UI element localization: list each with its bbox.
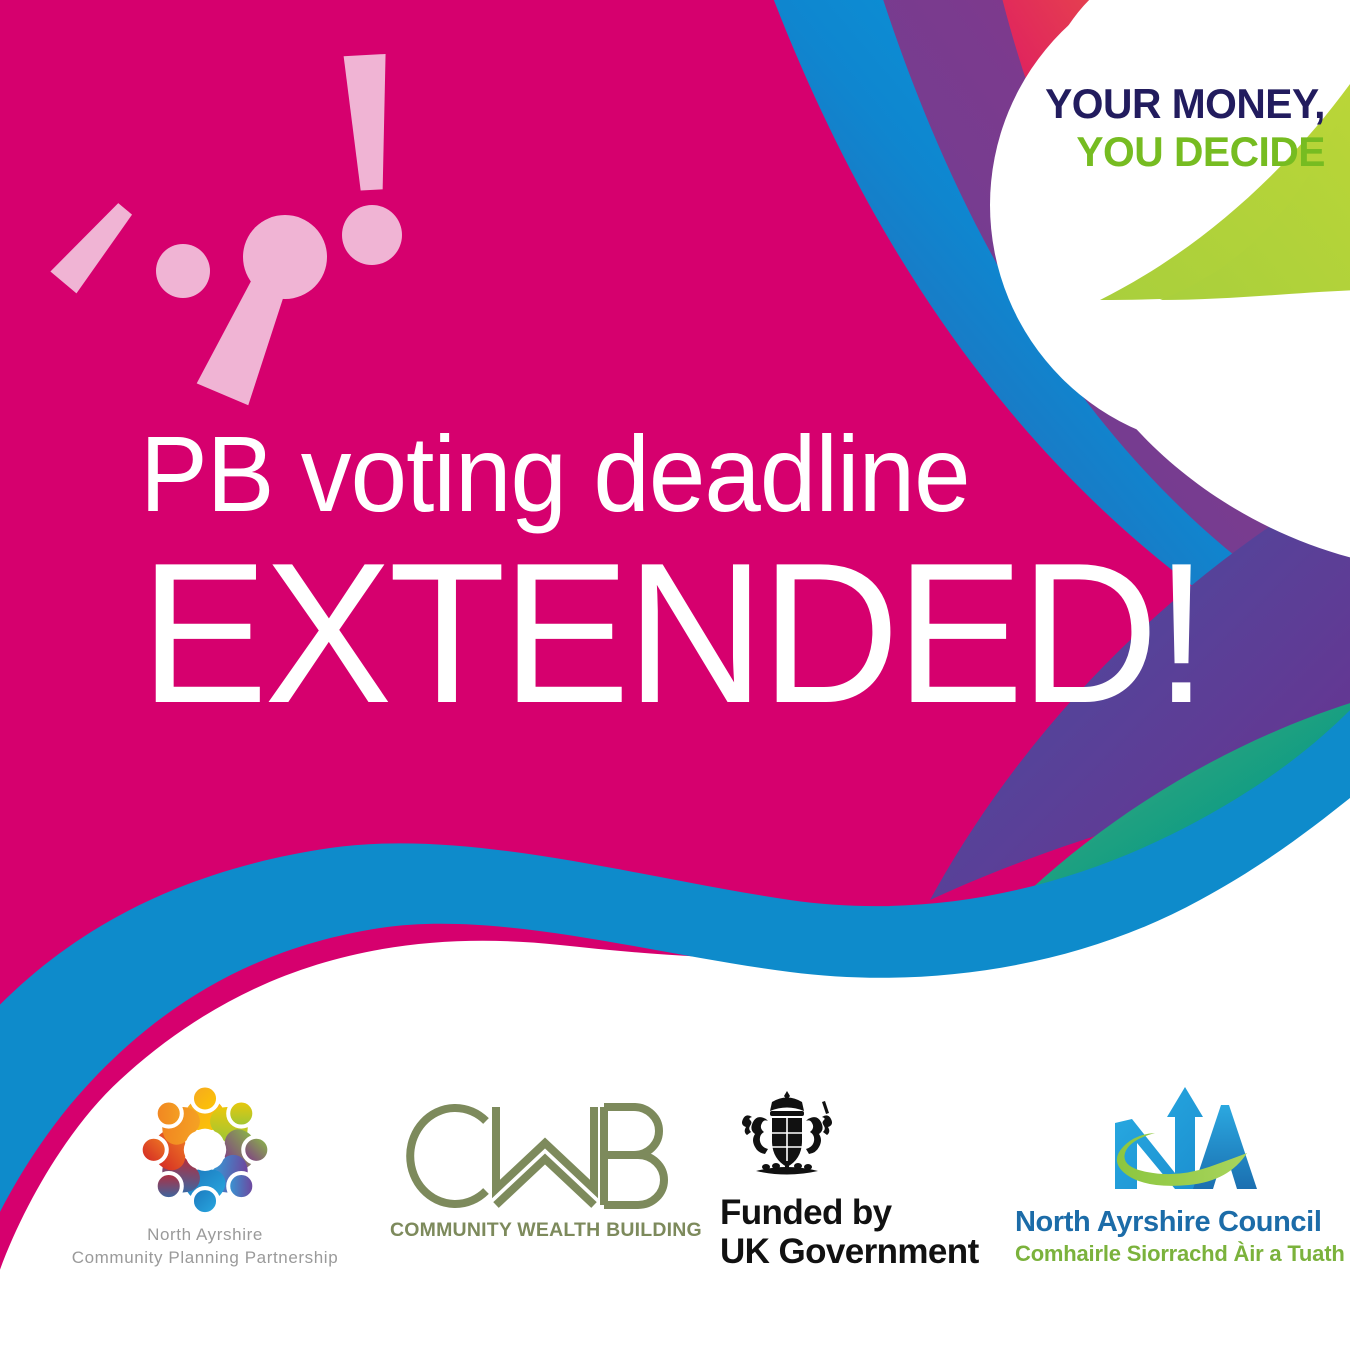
logo-cwb-caption: COMMUNITY WEALTH BUILDING xyxy=(390,1219,690,1242)
cwb-monogram-icon xyxy=(390,1093,690,1218)
strapline: YOUR MONEY, YOU DECIDE xyxy=(995,82,1325,174)
logo-cpp-caption-line-2: Community Planning Partnership xyxy=(55,1247,355,1270)
headline: PB voting deadline EXTENDED! xyxy=(140,420,1100,734)
headline-line-1: PB voting deadline xyxy=(140,420,1042,528)
exclamation-mark-right xyxy=(344,54,393,191)
logo-ukg-caption: Funded by UK Government xyxy=(720,1193,1000,1271)
na-arrow-monogram-icon xyxy=(1015,1081,1315,1206)
logo-community-wealth-building: COMMUNITY WEALTH BUILDING xyxy=(390,1093,690,1242)
royal-coat-of-arms-icon xyxy=(732,1087,842,1187)
strapline-line-2: YOU DECIDE xyxy=(1005,130,1325,174)
people-ring-icon xyxy=(55,1085,355,1220)
logo-funded-by-uk-government: Funded by UK Government xyxy=(720,1087,1000,1271)
exclamation-mark-small xyxy=(50,198,138,293)
logo-ukg-caption-line-2: UK Government xyxy=(720,1232,1000,1271)
headline-line-2: EXTENDED! xyxy=(140,534,1062,734)
logo-cpp-caption: North Ayrshire Community Planning Partne… xyxy=(55,1224,355,1270)
logo-cpp-caption-line-1: North Ayrshire xyxy=(55,1224,355,1247)
logo-nac-caption-line-1: North Ayrshire Council xyxy=(1015,1206,1315,1239)
logo-north-ayrshire-council: North Ayrshire Council Comhairle Siorrac… xyxy=(1015,1081,1315,1267)
logo-strip: North Ayrshire Community Planning Partne… xyxy=(0,1075,1350,1295)
exclamation-dot-large xyxy=(243,215,327,299)
poster-canvas: PB voting deadline EXTENDED! YOUR MONEY,… xyxy=(0,0,1350,1350)
exclamation-dot-right xyxy=(342,205,402,265)
strapline-line-1: YOUR MONEY, xyxy=(1005,82,1325,126)
logo-north-ayrshire-cpp: North Ayrshire Community Planning Partne… xyxy=(55,1085,355,1270)
logo-ukg-caption-line-1: Funded by xyxy=(720,1193,1000,1232)
logo-nac-caption-line-2: Comhairle Siorrachd Àir a Tuath xyxy=(1015,1241,1315,1267)
exclamation-dot-small xyxy=(156,244,210,298)
